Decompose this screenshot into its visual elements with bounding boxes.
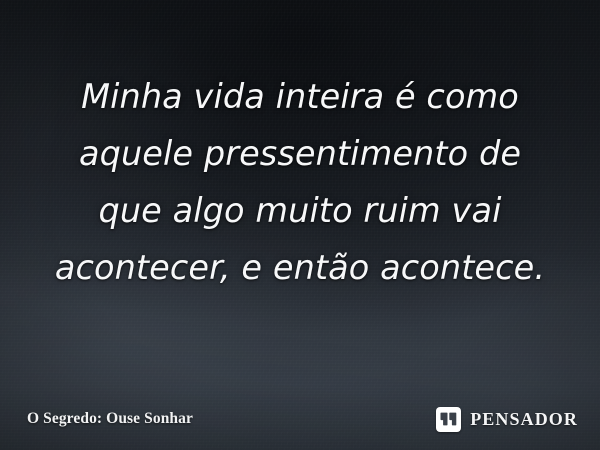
quote-card: Minha vida inteira é como aquele pressen… <box>0 0 600 450</box>
quote-mark-icon <box>436 407 461 432</box>
pensador-logo[interactable]: PENSADOR <box>436 407 578 432</box>
quote-author[interactable]: O Segredo: Ouse Sonhar <box>27 410 193 428</box>
quote-footer: O Segredo: Ouse Sonhar PENSADOR <box>0 394 600 450</box>
brand-name: PENSADOR <box>470 409 578 430</box>
quote-text: Minha vida inteira é como aquele pressen… <box>22 68 578 296</box>
quote-body: Minha vida inteira é como aquele pressen… <box>0 68 600 296</box>
